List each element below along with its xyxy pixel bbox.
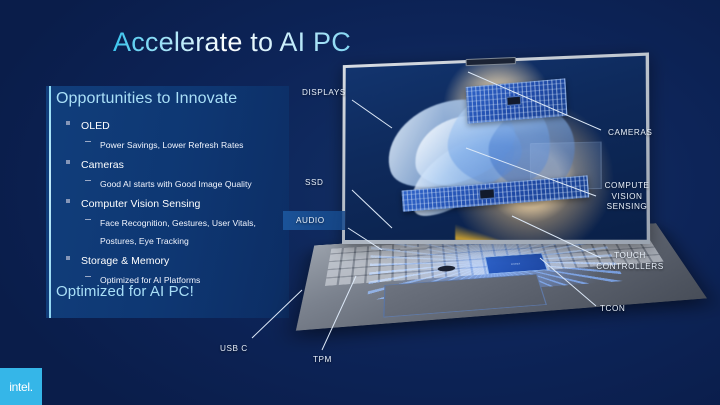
panel-heading: Opportunities to Innovate — [56, 90, 237, 108]
bullet-marker-square — [66, 121, 70, 125]
chip-label: intel — [511, 262, 521, 266]
callout-displays: DISPLAYS — [302, 88, 346, 99]
bullet-list: OLED Power Savings, Lower Refresh Rates … — [62, 116, 290, 290]
list-item: Power Savings, Lower Refresh Rates — [62, 135, 290, 153]
bullet-label: OLED — [81, 120, 110, 132]
list-item: Good AI starts with Good Image Quality — [62, 174, 290, 192]
page-title: Accelerate to AI PC — [113, 27, 351, 58]
callout-usb-c: USB C — [220, 344, 248, 355]
bullet-marker-square — [66, 256, 70, 260]
callout-ssd: SSD — [305, 178, 324, 189]
slide-canvas: Accelerate to AI PC Opportunities to Inn… — [0, 0, 720, 405]
callout-compute-vision-sensing: COMPUTE VISION SENSING — [596, 181, 658, 213]
bullet-label: Storage & Memory — [81, 255, 169, 267]
bullet-marker-dash — [85, 180, 91, 181]
bullet-marker-dash — [85, 219, 91, 220]
bullet-sublabel: Face Recognition, Gestures, User Vitals,… — [100, 218, 256, 246]
laptop-illustration: intel — [318, 58, 678, 388]
circuit-board-top — [466, 78, 568, 124]
intel-logo: intel. — [0, 368, 42, 405]
list-item: Face Recognition, Gestures, User Vitals,… — [62, 213, 290, 249]
bullet-label: Cameras — [81, 159, 124, 171]
callout-tcon: TCON — [600, 304, 625, 315]
list-item: Storage & Memory — [62, 251, 290, 269]
chip-icon — [479, 188, 496, 199]
callout-cameras: CAMERAS — [608, 128, 652, 139]
panel-accent-bar — [49, 86, 51, 318]
bullet-marker-square — [66, 199, 70, 203]
bullet-marker-dash — [85, 141, 91, 142]
callout-tpm: TPM — [313, 355, 332, 366]
bullet-marker-dash — [85, 276, 91, 277]
chip-icon — [506, 95, 521, 106]
list-item: Cameras — [62, 155, 290, 173]
list-item: Computer Vision Sensing — [62, 194, 290, 212]
panel-footer: Optimized for AI PC! — [56, 283, 194, 300]
bullet-marker-square — [66, 160, 70, 164]
list-item: OLED — [62, 116, 290, 134]
laptop-lid — [342, 52, 650, 244]
bullet-sublabel: Good AI starts with Good Image Quality — [100, 179, 252, 189]
callout-touch-controllers: TOUCH CONTROLLERS — [594, 251, 666, 272]
bullet-sublabel: Power Savings, Lower Refresh Rates — [100, 140, 244, 150]
bullet-label: Computer Vision Sensing — [81, 198, 200, 210]
intel-logo-text: intel. — [9, 380, 33, 394]
callout-audio: AUDIO — [296, 216, 325, 227]
